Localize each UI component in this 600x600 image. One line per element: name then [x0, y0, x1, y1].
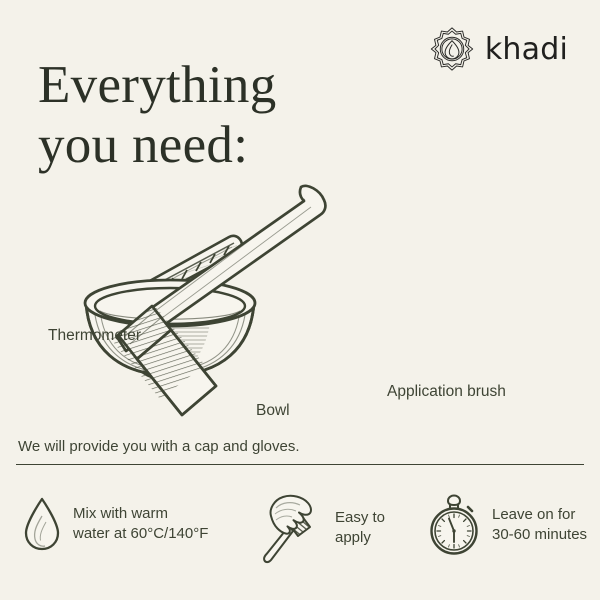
feature-mix-with-warm-water: Mix with warm water at 60°C/140°F — [22, 496, 208, 552]
application-brush-label: Application brush — [387, 383, 506, 401]
feature-mix-text: Mix with warm water at 60°C/140°F — [73, 504, 208, 544]
feature-duration-text: Leave on for 30-60 minutes — [492, 505, 587, 545]
hand-with-brush-icon — [262, 490, 324, 566]
bowl-label: Bowl — [256, 402, 290, 420]
water-drop-icon — [22, 496, 62, 552]
feature-apply-text: Easy to apply — [335, 508, 385, 548]
stopwatch-icon — [427, 494, 481, 556]
brand-wordmark: khadi — [485, 35, 568, 65]
feature-row: Mix with warm water at 60°C/140°F — [0, 488, 600, 578]
cap-and-gloves-note: We will provide you with a cap and glove… — [18, 438, 300, 455]
khadi-mandala-leaf-icon — [429, 26, 475, 72]
page-title: Everything you need: — [38, 56, 277, 176]
poster-canvas: khadi Everything you need: — [0, 0, 600, 600]
feature-leave-on-duration: Leave on for 30-60 minutes — [427, 494, 587, 556]
feature-easy-to-apply: Easy to apply — [262, 490, 385, 566]
brand-logo: khadi — [429, 26, 568, 72]
thermometer-label: Thermometer — [48, 327, 141, 345]
tools-illustration-svg — [0, 175, 600, 420]
tools-illustration-group: Thermometer Bowl Application brush — [0, 175, 600, 420]
section-divider — [16, 464, 584, 465]
